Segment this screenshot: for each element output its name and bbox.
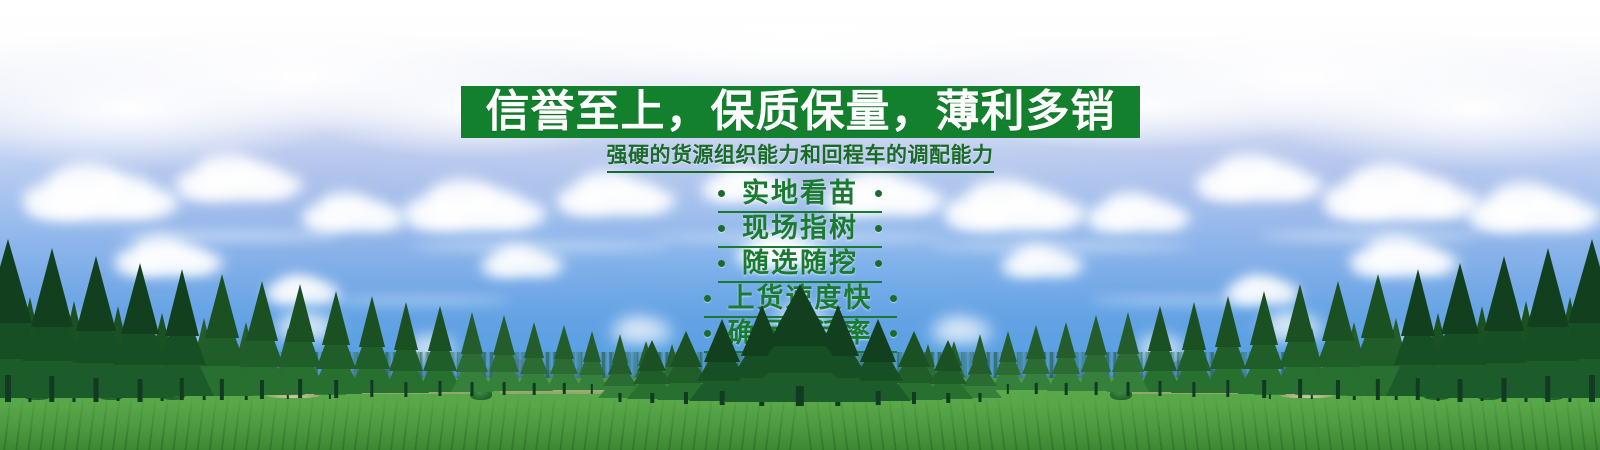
feature-item-inner: 现场指树 <box>718 213 882 248</box>
feature-item-inner: 实地看苗 <box>718 178 882 213</box>
promo-banner: 信誉至上，保质保量，薄利多销 强硬的货源组织能力和回程车的调配能力 实地看苗现场… <box>0 0 1600 450</box>
subtitle-text: 强硬的货源组织能力和回程车的调配能力 <box>607 144 994 173</box>
bullet-dot-icon <box>875 260 882 267</box>
conifer-tree <box>484 319 524 391</box>
feature-label: 实地看苗 <box>742 178 858 208</box>
feature-item: 现场指树 <box>0 213 1600 248</box>
headline-text: 信誉至上，保质保量，薄利多销 <box>486 90 1116 134</box>
conifer-tree <box>1386 276 1450 396</box>
conifer-tree <box>1076 319 1116 391</box>
bullet-dot-icon <box>890 295 897 302</box>
conifer-tree <box>13 256 91 398</box>
bullet-dot-icon <box>875 225 882 232</box>
feature-label: 随选随挖 <box>742 248 858 278</box>
conifer-tree <box>740 290 860 402</box>
subtitle-row: 强硬的货源组织能力和回程车的调配能力 <box>0 144 1600 173</box>
bullet-dot-icon <box>718 260 725 267</box>
feature-item-inner: 随选随挖 <box>718 248 882 283</box>
conifer-tree <box>150 276 214 396</box>
conifer-tree <box>1509 256 1587 398</box>
bullet-dot-icon <box>718 190 725 197</box>
bullet-dot-icon <box>704 295 711 302</box>
conifer-tree <box>1238 296 1290 394</box>
bullet-dot-icon <box>718 225 725 232</box>
conifer-tree <box>310 296 362 394</box>
bullet-dot-icon <box>875 190 882 197</box>
headline-banner: 信誉至上，保质保量，薄利多销 <box>461 86 1140 138</box>
feature-item: 实地看苗 <box>0 178 1600 213</box>
feature-item: 随选随挖 <box>0 248 1600 283</box>
feature-label: 现场指树 <box>742 213 858 243</box>
